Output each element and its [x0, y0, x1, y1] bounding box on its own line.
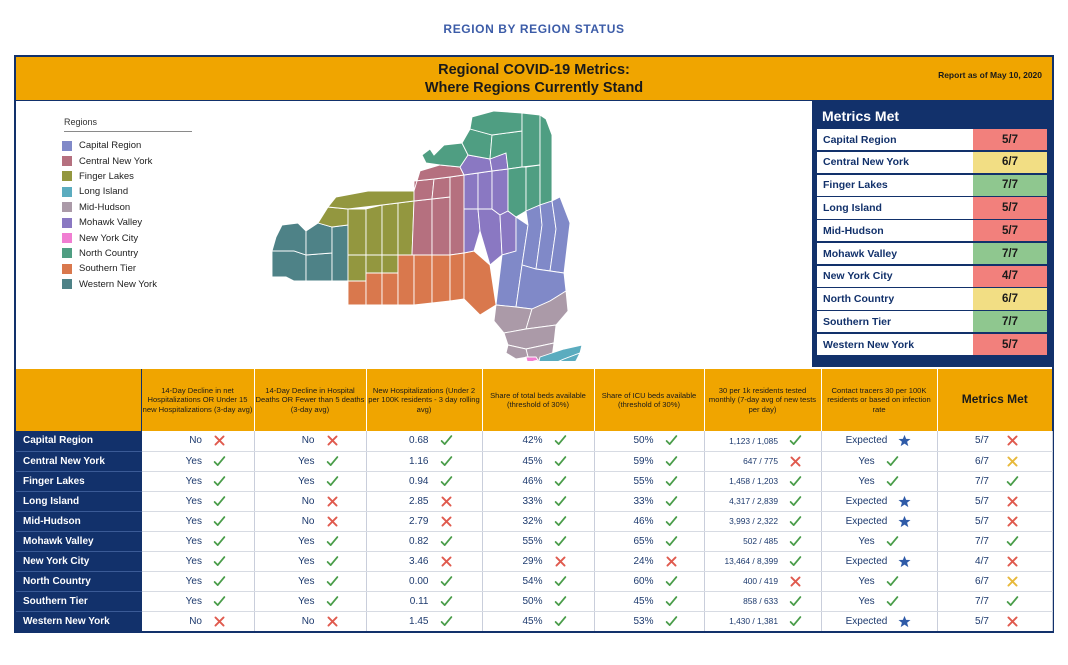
metric-status-mark	[554, 555, 568, 568]
metric-value: 7/7	[969, 476, 995, 487]
legend-swatch	[62, 171, 72, 181]
metric-value: 400 / 419	[722, 576, 778, 586]
table-row: Western New YorkNoNo1.4545%53%1,430 / 1,…	[16, 611, 1052, 631]
check-icon	[886, 475, 899, 488]
check-icon	[665, 434, 678, 447]
map-region-central-new-york	[412, 165, 464, 255]
metric-value: 6/7	[969, 456, 995, 467]
table-header-col-7: Contact tracers 30 per 100K residents or…	[821, 369, 937, 431]
metric-cell-6: 858 / 633	[704, 591, 821, 611]
metrics-met-cell: 6/7	[937, 571, 1052, 591]
metric-status-mark	[886, 475, 900, 488]
legend-swatch	[62, 141, 72, 151]
metric-cell-5: 65%	[594, 531, 704, 551]
new-york-state-map	[264, 105, 584, 361]
metrics-met-region: New York City	[817, 266, 973, 287]
metric-cell-3: 0.94	[366, 471, 482, 491]
metrics-met-row: Western New York5/7	[817, 334, 1047, 355]
check-icon	[440, 434, 453, 447]
metric-value: Yes	[858, 596, 874, 607]
metric-status-mark	[898, 555, 912, 568]
cross-gold-icon	[1006, 575, 1019, 588]
metrics-met-region: Finger Lakes	[817, 175, 973, 196]
metric-cell-5: 33%	[594, 491, 704, 511]
metric-value: Yes	[168, 536, 202, 547]
metric-status-mark	[326, 455, 340, 468]
metric-status-mark	[554, 434, 568, 447]
metric-value: Expected	[846, 516, 888, 527]
cross-icon	[1006, 515, 1019, 528]
metric-status-mark	[1006, 455, 1020, 468]
check-icon	[665, 495, 678, 508]
metric-value: 0.11	[395, 596, 429, 607]
metrics-met-cell: 7/7	[937, 531, 1052, 551]
check-icon	[554, 615, 567, 628]
metric-value: 1.16	[395, 456, 429, 467]
metric-status-mark	[789, 515, 803, 528]
map-svg	[264, 105, 584, 361]
metric-cell-3: 0.11	[366, 591, 482, 611]
table-header-col-1: 14-Day Decline in net Hospitalizations O…	[141, 369, 254, 431]
metric-cell-1: Yes	[141, 511, 254, 531]
metric-status-mark	[213, 495, 227, 508]
metrics-met-region: Long Island	[817, 197, 973, 218]
legend-item-mid-hudson: Mid-Hudson	[62, 200, 252, 215]
metric-status-mark	[440, 535, 454, 548]
cross-icon	[326, 495, 339, 508]
table-header-col-3: New Hospitalizations (Under 2 per 100K r…	[366, 369, 482, 431]
metric-cell-4: 50%	[482, 591, 594, 611]
metric-status-mark	[1006, 595, 1020, 608]
metric-cell-7: Expected	[821, 431, 937, 451]
metric-value: 46%	[509, 476, 543, 487]
metric-status-mark	[789, 434, 803, 447]
check-icon	[213, 575, 226, 588]
metric-cell-1: Yes	[141, 551, 254, 571]
cross-icon	[789, 575, 802, 588]
legend-label: New York City	[79, 233, 138, 244]
metrics-met-row: Mohawk Valley7/7	[817, 243, 1047, 264]
legend-item-long-island: Long Island	[62, 184, 252, 199]
cross-icon	[440, 495, 453, 508]
metric-status-mark	[898, 515, 912, 528]
metric-value: Yes	[168, 456, 202, 467]
map-region-western-new-york	[272, 223, 348, 281]
metric-cell-4: 46%	[482, 471, 594, 491]
check-icon	[440, 535, 453, 548]
metric-status-mark	[440, 475, 454, 488]
metrics-met-value: 4/7	[973, 266, 1047, 287]
table-header-col-2: 14-Day Decline in Hospital Deaths OR Few…	[254, 369, 366, 431]
metric-value: Yes	[281, 596, 315, 607]
metric-status-mark	[789, 575, 803, 588]
metric-status-mark	[554, 535, 568, 548]
table-row-region: North Country	[16, 571, 141, 591]
check-icon	[554, 434, 567, 447]
metric-status-mark	[665, 434, 679, 447]
metric-status-mark	[554, 515, 568, 528]
metric-value: Yes	[858, 456, 874, 467]
table-row-region: Finger Lakes	[16, 471, 141, 491]
check-icon	[789, 515, 802, 528]
check-icon	[789, 434, 802, 447]
metric-value: No	[281, 435, 315, 446]
metric-status-mark	[665, 615, 679, 628]
legend-swatch	[62, 279, 72, 289]
metric-cell-2: Yes	[254, 471, 366, 491]
check-icon	[665, 615, 678, 628]
table-header-metrics-met: Metrics Met	[937, 369, 1052, 431]
metric-status-mark	[1006, 434, 1020, 447]
legend-item-finger-lakes: Finger Lakes	[62, 169, 252, 184]
cross-icon	[1006, 555, 1019, 568]
legend-label: Mohawk Valley	[79, 217, 142, 228]
metrics-met-region: North Country	[817, 288, 973, 309]
metric-value: 5/7	[969, 496, 995, 507]
metrics-met-cell: 7/7	[937, 471, 1052, 491]
star-icon	[898, 434, 911, 447]
legend-swatch	[62, 233, 72, 243]
metric-status-mark	[886, 595, 900, 608]
table-row: New York CityYesYes3.4629%24%13,464 / 8,…	[16, 551, 1052, 571]
metric-cell-5: 59%	[594, 451, 704, 471]
metric-cell-5: 60%	[594, 571, 704, 591]
legend-item-mohawk-valley: Mohawk Valley	[62, 215, 252, 230]
metric-status-mark	[440, 595, 454, 608]
check-icon	[213, 515, 226, 528]
metric-value: 0.82	[395, 536, 429, 547]
star-icon	[898, 615, 911, 628]
legend-item-central-new-york: Central New York	[62, 153, 252, 168]
legend-label: Capital Region	[79, 140, 141, 151]
metric-value: 1.45	[395, 616, 429, 627]
table-row-region: Capital Region	[16, 431, 141, 451]
metrics-met-row: Capital Region5/7	[817, 129, 1047, 150]
report-date: Report as of May 10, 2020	[938, 70, 1042, 80]
legend-item-north-country: North Country	[62, 246, 252, 261]
metric-cell-4: 33%	[482, 491, 594, 511]
legend-swatch	[62, 218, 72, 228]
table-row-region: Mohawk Valley	[16, 531, 141, 551]
metrics-met-value: 5/7	[973, 220, 1047, 241]
metrics-met-value: 6/7	[973, 152, 1047, 173]
metric-status-mark	[665, 515, 679, 528]
metric-status-mark	[898, 495, 912, 508]
table-header-col-4: Share of total beds available (threshold…	[482, 369, 594, 431]
cross-icon	[440, 515, 453, 528]
metric-cell-3: 0.82	[366, 531, 482, 551]
legend-label: Western New York	[79, 279, 157, 290]
metric-value: 65%	[620, 536, 654, 547]
metric-status-mark	[886, 455, 900, 468]
metric-value: 53%	[620, 616, 654, 627]
metric-value: Expected	[846, 435, 888, 446]
legend-label: Southern Tier	[79, 263, 136, 274]
check-icon	[886, 575, 899, 588]
metric-cell-1: Yes	[141, 471, 254, 491]
metric-value: 6/7	[969, 576, 995, 587]
check-icon	[1006, 595, 1019, 608]
metric-cell-2: Yes	[254, 451, 366, 471]
metric-status-mark	[440, 575, 454, 588]
metric-value: 7/7	[969, 536, 995, 547]
check-icon	[326, 535, 339, 548]
metric-value: 1,123 / 1,085	[722, 436, 778, 446]
metric-cell-5: 53%	[594, 611, 704, 631]
check-icon	[789, 475, 802, 488]
metric-value: No	[168, 435, 202, 446]
metric-value: 502 / 485	[722, 536, 778, 546]
check-icon	[886, 455, 899, 468]
star-icon	[898, 515, 911, 528]
metric-status-mark	[554, 495, 568, 508]
metrics-met-cell: 5/7	[937, 491, 1052, 511]
metric-cell-2: No	[254, 491, 366, 511]
metric-cell-5: 50%	[594, 431, 704, 451]
metric-cell-5: 45%	[594, 591, 704, 611]
metric-cell-1: Yes	[141, 491, 254, 511]
metric-value: 33%	[620, 496, 654, 507]
legend-swatch	[62, 156, 72, 166]
metric-cell-4: 45%	[482, 611, 594, 631]
metric-status-mark	[326, 475, 340, 488]
metric-status-mark	[213, 575, 227, 588]
check-icon	[665, 475, 678, 488]
legend-label: Long Island	[79, 186, 128, 197]
metric-status-mark	[326, 434, 340, 447]
metric-cell-5: 55%	[594, 471, 704, 491]
metric-value: 0.94	[395, 476, 429, 487]
metrics-met-value: 5/7	[973, 334, 1047, 355]
check-icon	[789, 495, 802, 508]
metric-status-mark	[213, 615, 227, 628]
table-row: Central New YorkYesYes1.1645%59%647 / 77…	[16, 451, 1052, 471]
metric-value: 45%	[620, 596, 654, 607]
metric-cell-6: 400 / 419	[704, 571, 821, 591]
metric-value: Yes	[858, 536, 874, 547]
check-icon	[789, 555, 802, 568]
metric-status-mark	[440, 555, 454, 568]
table-row-region: New York City	[16, 551, 141, 571]
table-row: Southern TierYesYes0.1150%45%858 / 633Ye…	[16, 591, 1052, 611]
metric-cell-3: 1.45	[366, 611, 482, 631]
metric-status-mark	[789, 615, 803, 628]
card-title-bar: Regional COVID-19 Metrics: Where Regions…	[16, 57, 1052, 101]
metric-value: 13,464 / 8,399	[722, 556, 778, 566]
metric-status-mark	[789, 595, 803, 608]
metric-value: Yes	[168, 556, 202, 567]
metric-value: No	[281, 616, 315, 627]
metric-cell-6: 1,430 / 1,381	[704, 611, 821, 631]
metric-cell-7: Yes	[821, 591, 937, 611]
table-row-region: Central New York	[16, 451, 141, 471]
metric-value: 5/7	[969, 516, 995, 527]
check-icon	[554, 475, 567, 488]
legend-label: North Country	[79, 248, 138, 259]
metric-value: 46%	[620, 516, 654, 527]
metric-cell-6: 13,464 / 8,399	[704, 551, 821, 571]
metric-value: 2.85	[395, 496, 429, 507]
metric-value: 4,317 / 2,839	[722, 496, 778, 506]
metric-status-mark	[1006, 555, 1020, 568]
metric-value: 29%	[509, 556, 543, 567]
metric-value: 1,430 / 1,381	[722, 616, 778, 626]
cross-icon	[554, 555, 567, 568]
card-title-line2: Where Regions Currently Stand	[16, 79, 1052, 97]
metric-status-mark	[665, 475, 679, 488]
metric-status-mark	[213, 475, 227, 488]
check-icon	[213, 475, 226, 488]
check-icon	[1006, 535, 1019, 548]
report-page: REGION BY REGION STATUS Regional COVID-1…	[0, 0, 1068, 665]
legend-label: Central New York	[79, 156, 152, 167]
metric-cell-4: 54%	[482, 571, 594, 591]
cross-icon	[1006, 495, 1019, 508]
metric-value: 60%	[620, 576, 654, 587]
check-icon	[665, 455, 678, 468]
check-icon	[886, 595, 899, 608]
metric-status-mark	[326, 595, 340, 608]
legend-swatch	[62, 264, 72, 274]
metric-cell-2: Yes	[254, 591, 366, 611]
metric-status-mark	[326, 555, 340, 568]
metric-status-mark	[554, 455, 568, 468]
metrics-met-value: 6/7	[973, 288, 1047, 309]
metric-cell-6: 3,993 / 2,322	[704, 511, 821, 531]
metric-cell-2: No	[254, 611, 366, 631]
metrics-met-region: Mohawk Valley	[817, 243, 973, 264]
metric-cell-7: Expected	[821, 551, 937, 571]
metric-status-mark	[789, 475, 803, 488]
check-icon	[554, 515, 567, 528]
metric-cell-5: 24%	[594, 551, 704, 571]
metrics-met-region: Western New York	[817, 334, 973, 355]
check-icon	[554, 455, 567, 468]
table-header-blank	[16, 369, 141, 431]
metrics-met-cell: 6/7	[937, 451, 1052, 471]
regional-metrics-table: 14-Day Decline in net Hospitalizations O…	[16, 369, 1053, 631]
metric-status-mark	[789, 535, 803, 548]
metric-status-mark	[665, 555, 679, 568]
legend-label: Mid-Hudson	[79, 202, 130, 213]
cross-icon	[213, 615, 226, 628]
metric-value: 5/7	[969, 616, 995, 627]
metrics-met-value: 7/7	[973, 311, 1047, 332]
metric-status-mark	[554, 475, 568, 488]
metric-value: Yes	[168, 476, 202, 487]
check-icon	[213, 495, 226, 508]
metric-value: 55%	[620, 476, 654, 487]
metric-status-mark	[213, 535, 227, 548]
metric-status-mark	[665, 495, 679, 508]
check-icon	[554, 595, 567, 608]
table-row-region: Mid-Hudson	[16, 511, 141, 531]
legend-swatch	[62, 187, 72, 197]
metric-status-mark	[898, 615, 912, 628]
map-strip: Regions Capital RegionCentral New YorkFi…	[16, 101, 1052, 367]
metric-status-mark	[440, 515, 454, 528]
metrics-met-cell: 5/7	[937, 611, 1052, 631]
metric-status-mark	[554, 615, 568, 628]
metrics-met-row: Central New York6/7	[817, 152, 1047, 173]
metrics-met-row: Long Island5/7	[817, 197, 1047, 218]
metric-value: 59%	[620, 456, 654, 467]
metric-status-mark	[665, 575, 679, 588]
metric-cell-2: Yes	[254, 571, 366, 591]
metric-value: 50%	[620, 435, 654, 446]
page-headline: REGION BY REGION STATUS	[0, 22, 1068, 36]
cross-icon	[213, 434, 226, 447]
metric-status-mark	[326, 495, 340, 508]
metric-value: 5/7	[969, 435, 995, 446]
cross-icon	[440, 555, 453, 568]
metric-value: Yes	[858, 576, 874, 587]
metrics-met-value: 5/7	[973, 129, 1047, 150]
table-row: Mohawk ValleyYesYes0.8255%65%502 / 485Ye…	[16, 531, 1052, 551]
cross-icon	[789, 455, 802, 468]
metric-cell-1: Yes	[141, 571, 254, 591]
check-icon	[665, 535, 678, 548]
metric-cell-1: Yes	[141, 451, 254, 471]
cross-icon	[326, 515, 339, 528]
metric-cell-2: Yes	[254, 551, 366, 571]
metric-status-mark	[886, 575, 900, 588]
table-row: Long IslandYesNo2.8533%33%4,317 / 2,839E…	[16, 491, 1052, 511]
metrics-met-cell: 5/7	[937, 431, 1052, 451]
check-icon	[440, 595, 453, 608]
metric-cell-6: 1,458 / 1,203	[704, 471, 821, 491]
legend-label: Finger Lakes	[79, 171, 134, 182]
metric-value: Yes	[168, 596, 202, 607]
metric-value: 54%	[509, 576, 543, 587]
metric-value: 647 / 775	[722, 456, 778, 466]
check-icon	[326, 555, 339, 568]
metric-value: 45%	[509, 456, 543, 467]
metric-value: 858 / 633	[722, 596, 778, 606]
metric-status-mark	[213, 595, 227, 608]
metric-value: 7/7	[969, 596, 995, 607]
check-icon	[440, 575, 453, 588]
metric-value: Yes	[281, 476, 315, 487]
legend-swatch	[62, 248, 72, 258]
check-icon	[665, 595, 678, 608]
metric-cell-3: 2.85	[366, 491, 482, 511]
check-icon	[554, 535, 567, 548]
card-title-line1: Regional COVID-19 Metrics:	[16, 61, 1052, 79]
metric-status-mark	[886, 535, 900, 548]
map-legend: Regions Capital RegionCentral New YorkFi…	[62, 117, 252, 292]
metric-value: 33%	[509, 496, 543, 507]
metric-value: Yes	[858, 476, 874, 487]
check-icon	[789, 595, 802, 608]
metric-cell-4: 42%	[482, 431, 594, 451]
metric-cell-2: No	[254, 511, 366, 531]
metric-value: 24%	[620, 556, 654, 567]
metric-value: Expected	[846, 556, 888, 567]
metric-status-mark	[440, 495, 454, 508]
cross-icon	[1006, 615, 1019, 628]
table-row: Capital RegionNoNo0.6842%50%1,123 / 1,08…	[16, 431, 1052, 451]
metric-value: 0.00	[395, 576, 429, 587]
metric-cell-4: 29%	[482, 551, 594, 571]
metrics-met-cell: 5/7	[937, 511, 1052, 531]
metric-value: Yes	[168, 496, 202, 507]
check-icon	[554, 495, 567, 508]
cross-icon	[326, 615, 339, 628]
metrics-met-cell: 7/7	[937, 591, 1052, 611]
metric-cell-2: No	[254, 431, 366, 451]
metric-cell-6: 1,123 / 1,085	[704, 431, 821, 451]
